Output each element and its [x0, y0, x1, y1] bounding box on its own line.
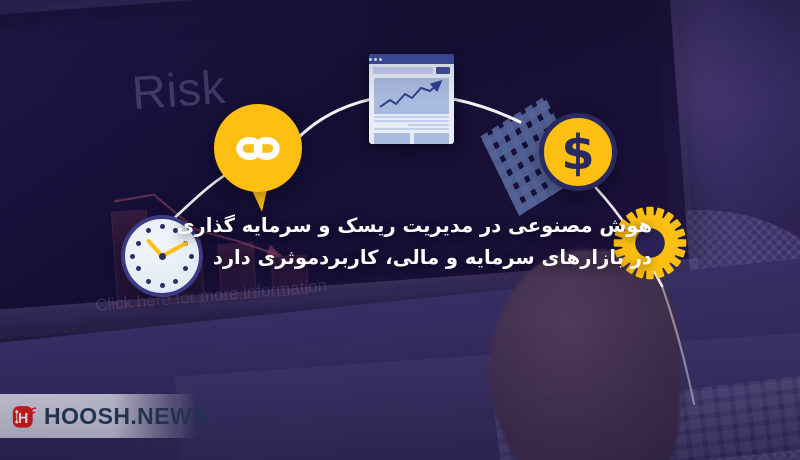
browser-logo-block [436, 67, 450, 74]
browser-dot-icon [374, 58, 377, 61]
headline-line-2: در بازارهای سرمایه و مالی، کاربردموثری د… [182, 242, 652, 274]
browser-dot-icon [379, 58, 382, 61]
headline-line-1: هوش مصنوعی در مدیریت ریسک و سرمایه گذاری [182, 210, 652, 242]
uptrend-arrow-icon [374, 78, 449, 114]
svg-text:$: $ [561, 125, 594, 180]
browser-chart-area [374, 78, 449, 114]
hoosh-logo-mark[interactable]: H [12, 403, 39, 430]
browser-card [374, 133, 410, 144]
browser-titlebar [369, 54, 454, 64]
promo-banner: Risk Click here for more information [0, 0, 800, 460]
logo-bar[interactable]: H HOOSH.NEWS [0, 394, 196, 438]
dollar-sign-icon: $ [553, 124, 603, 180]
browser-card [414, 133, 450, 144]
browser-card-row [374, 133, 449, 144]
browser-address-bar [369, 64, 454, 76]
browser-window-graphic [369, 54, 454, 144]
browser-text-rows [374, 116, 449, 130]
svg-text:H: H [18, 410, 28, 426]
link-node [214, 104, 302, 212]
logo-wordmark: HOOSH.NEWS [44, 403, 208, 430]
headline: هوش مصنوعی در مدیریت ریسک و سرمایه گذاری… [182, 210, 652, 273]
browser-dot-icon [369, 58, 372, 61]
money-node: $ [539, 113, 617, 191]
browser-url-field [373, 67, 433, 74]
chain-link-icon [230, 128, 286, 172]
clock-center-pin [159, 253, 166, 260]
